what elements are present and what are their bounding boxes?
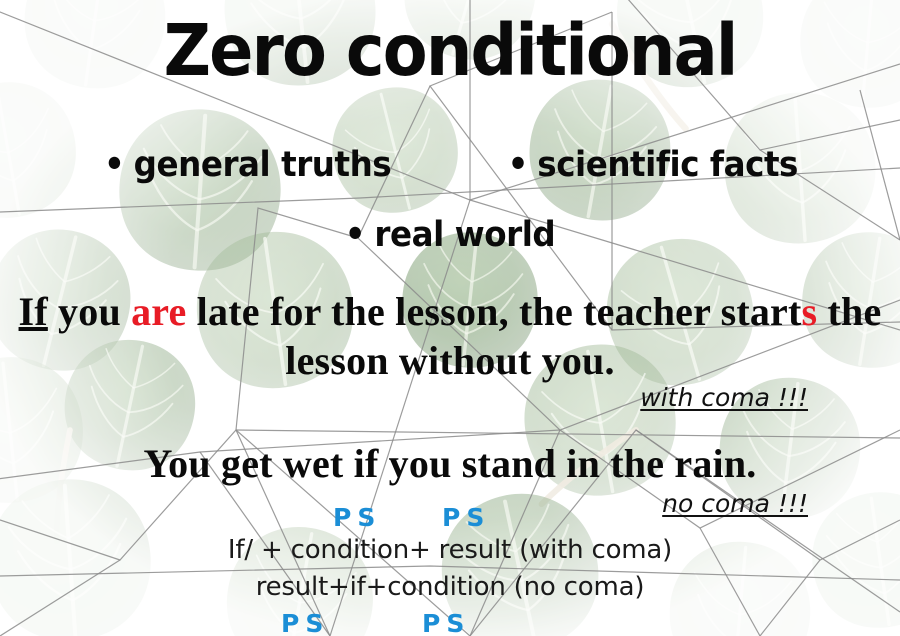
bullet-dot-icon: • [508,145,528,185]
bullet-item-real-world: •real world [345,215,556,255]
bullet-row-bottom: •real world [32,215,869,255]
example-1-part-you: you [48,289,131,334]
example-2-text: You get wet if you stand in the rain. [144,441,757,486]
note-with-coma-text: with coma !!! [640,383,808,412]
page-title: Zero conditional [36,14,864,89]
note-with-coma: with coma !!! [0,383,900,412]
watermark-ps-bottom-left: PS [281,609,329,636]
watermark-ps-top-right: PS [442,503,490,532]
formula-with-coma: If/ + condition+ result (with coma) [0,535,900,565]
watermark-ps-bottom-right: PS [422,609,470,636]
example-1-part-if: If [19,289,48,334]
example-1-part-are: are [131,289,186,334]
bullet-label-scientific-facts: scientific facts [537,145,798,185]
watermark-ps-top-left: PS [333,503,381,532]
example-sentence-no-coma: You get wet if you stand in the rain. [0,440,900,489]
bullet-label-real-world: real world [374,215,555,255]
bullet-dot-icon: • [345,215,365,255]
slide-canvas: Zero conditional •general truths •scient… [0,0,900,636]
formula-no-coma: result+if+condition (no coma) [0,572,900,602]
bullet-item-scientific-facts: •scientific facts [508,145,798,185]
slide-content: Zero conditional •general truths •scient… [0,0,900,636]
note-no-coma-text: no coma !!! [662,489,808,518]
example-1-part-s: s [802,289,818,334]
bullet-item-general-truths: •general truths [104,145,391,185]
bullet-dot-icon: • [104,145,124,185]
bullet-label-general-truths: general truths [134,145,392,185]
example-1-part-middle: late for the lesson, the teacher start [186,289,801,334]
example-sentence-with-coma: If you are late for the lesson, the teac… [0,288,900,386]
